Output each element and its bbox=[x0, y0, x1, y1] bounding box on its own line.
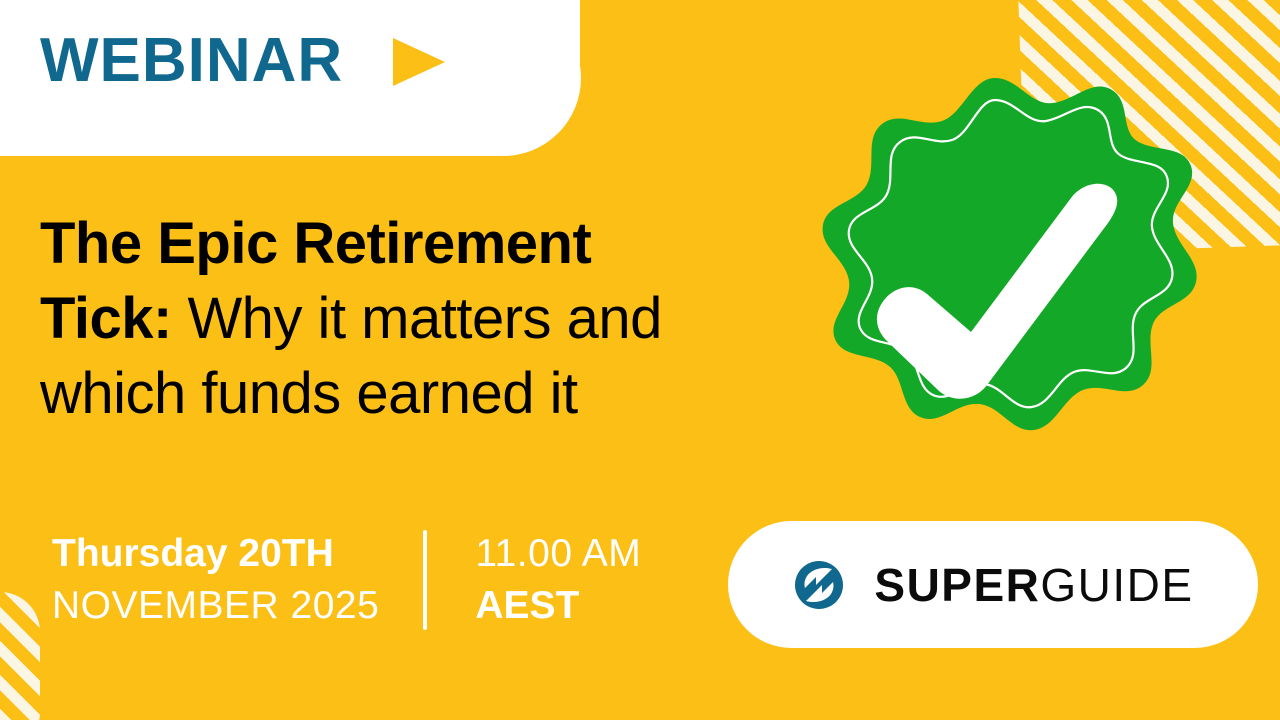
event-time: 11.00 AM AEST bbox=[427, 528, 641, 632]
event-timezone: AEST bbox=[475, 580, 641, 632]
superguide-word-guide: GUIDE bbox=[1040, 559, 1193, 611]
event-date: Thursday 20TH NOVEMBER 2025 bbox=[52, 528, 423, 632]
page-title: The Epic Retirement Tick: Why it matters… bbox=[40, 206, 720, 431]
event-date-month-year: NOVEMBER 2025 bbox=[52, 580, 379, 632]
superguide-word-super: SUPER bbox=[874, 559, 1040, 611]
webinar-label: WEBINAR bbox=[40, 30, 343, 92]
event-time-value: 11.00 AM bbox=[475, 528, 641, 580]
superguide-logo: SUPERGUIDE bbox=[728, 521, 1258, 648]
diagonal-stripe-pattern-bottom-left bbox=[0, 592, 40, 720]
play-triangle-icon bbox=[393, 38, 445, 86]
webinar-badge: WEBINAR bbox=[40, 30, 445, 92]
green-starburst-checkmark-icon bbox=[775, 70, 1215, 510]
event-date-day: Thursday 20TH bbox=[52, 528, 379, 580]
superguide-wordmark: SUPERGUIDE bbox=[874, 562, 1193, 608]
superguide-s-circle-icon bbox=[792, 558, 846, 612]
event-datetime: Thursday 20TH NOVEMBER 2025 11.00 AM AES… bbox=[52, 528, 641, 632]
webinar-promo-graphic: WEBINAR The Epic Retirement Tick: Why it… bbox=[0, 0, 1280, 720]
